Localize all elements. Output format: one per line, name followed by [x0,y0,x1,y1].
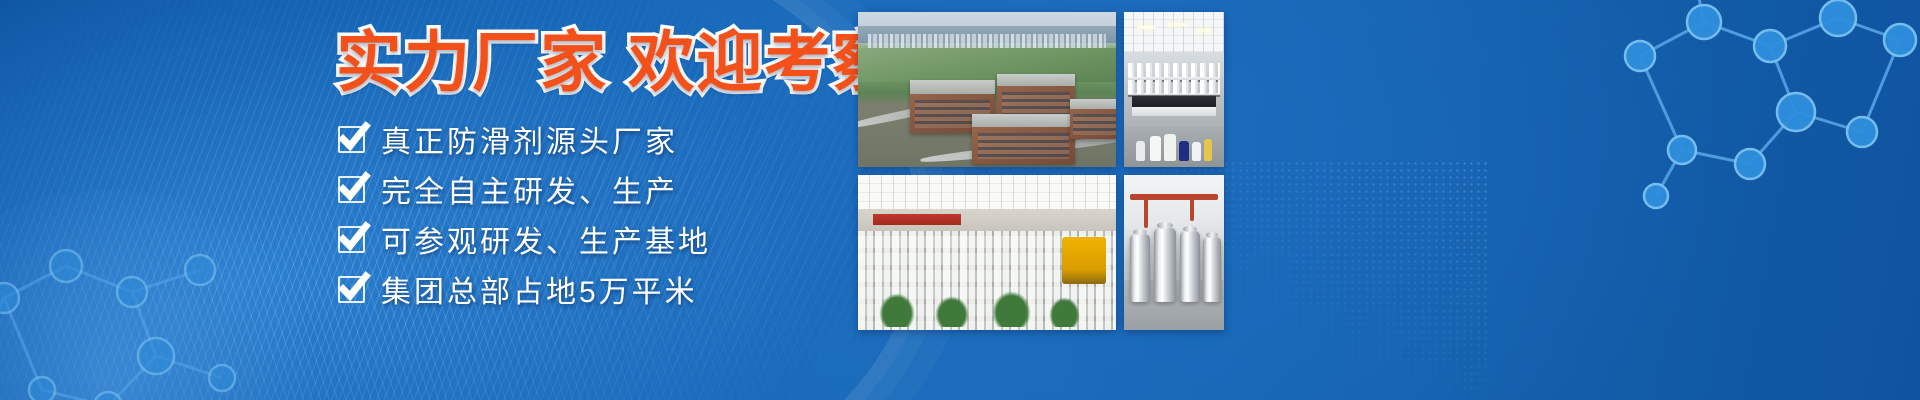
checkbox-checked-icon [338,126,365,153]
list-item-label: 集团总部占地5万平米 [381,267,698,311]
checkbox-checked-icon [338,176,365,203]
list-item: 完全自主研发、生产 [338,168,711,210]
list-item: 可参观研发、生产基地 [338,218,711,260]
molecule-structure-right-icon [1600,0,1920,212]
corner-glow-decoration [0,190,340,400]
checkbox-checked-icon [338,276,365,303]
page-title: 实力厂家 欢迎考察 [336,28,900,98]
photo-production-equipment [1124,175,1224,330]
molecule-structure-left-icon [0,240,270,400]
list-item-label: 真正防滑剂源头厂家 [381,117,678,161]
photo-laboratory [1124,12,1224,167]
photo-gallery [858,12,1224,388]
list-item: 集团总部占地5万平米 [338,268,711,310]
list-item-label: 可参观研发、生产基地 [381,217,711,261]
list-item-label: 完全自主研发、生产 [381,167,678,211]
photo-campus-aerial [858,12,1116,167]
checkbox-checked-icon [338,226,365,253]
photo-staff-group [858,175,1116,330]
feature-list: 真正防滑剂源头厂家 完全自主研发、生产 可参观研发、生产基地 [338,118,711,310]
promotional-banner: 实力厂家 欢迎考察 真正防滑剂源头厂家 完全自主研发、生产 [0,0,1920,400]
list-item: 真正防滑剂源头厂家 [338,118,711,160]
